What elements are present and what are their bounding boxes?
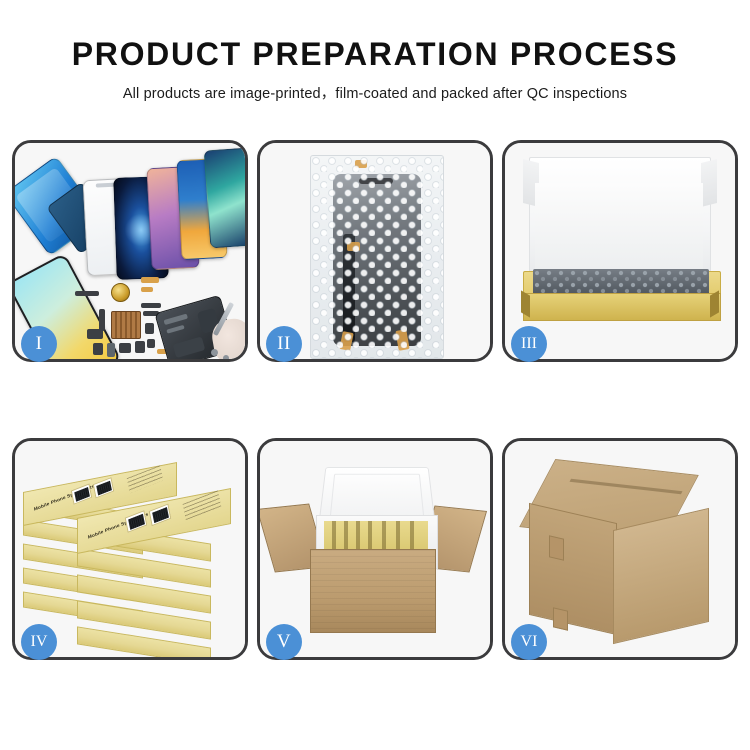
spare-part (141, 303, 161, 308)
process-step-panel-2[interactable]: II (257, 140, 493, 362)
lid-right-flap (701, 159, 717, 207)
spare-part (93, 343, 103, 355)
carton-body (310, 549, 436, 633)
process-step-panel-4[interactable]: Mobile Phone Spare Parts Mobile Phone Sp… (12, 438, 248, 660)
step-1-image (15, 143, 245, 359)
process-step-grid: I II III (12, 140, 738, 660)
process-step-panel-5[interactable]: V (257, 438, 493, 660)
spare-part (99, 309, 105, 331)
box-window (149, 503, 172, 526)
spare-part (145, 323, 154, 334)
screw (211, 349, 218, 356)
box-window (71, 483, 93, 504)
step-number-badge: V (266, 624, 302, 660)
screw (223, 355, 229, 359)
phone-display-teal (204, 148, 245, 249)
box-left-corner (521, 290, 530, 317)
box-window (125, 510, 148, 533)
step-3-image (505, 143, 735, 359)
foam-backing (535, 183, 703, 275)
page-header: PRODUCT PREPARATION PROCESS All products… (0, 0, 750, 103)
page-subtitle: All products are image-printed，film-coat… (0, 82, 750, 103)
step-6-image (505, 441, 735, 657)
bubble-wrap-bag (310, 155, 444, 359)
step-number-badge: II (266, 326, 302, 362)
step-number-badge: IV (21, 624, 57, 660)
box-window (93, 477, 115, 498)
box-spec-lines (183, 490, 222, 521)
flex-cable (141, 277, 159, 283)
process-step-panel-3[interactable]: III (502, 140, 738, 362)
step-4-image: Mobile Phone Spare Parts Mobile Phone Sp… (15, 441, 245, 657)
carton-right-face (613, 508, 709, 644)
logic-board-chip (111, 311, 141, 339)
flex-cable (141, 287, 153, 292)
carton-tape-patch (549, 535, 564, 560)
step-2-image (260, 143, 490, 359)
step-number-badge: I (21, 326, 57, 362)
step-number-badge: VI (511, 624, 547, 660)
carton-left-face (529, 503, 617, 635)
process-step-panel-1[interactable]: I (12, 140, 248, 362)
page-title: PRODUCT PREPARATION PROCESS (0, 38, 750, 72)
step-5-image (260, 441, 490, 657)
bubble-texture (311, 156, 443, 358)
spare-part (135, 341, 145, 353)
spare-part (75, 291, 99, 296)
process-step-panel-6[interactable]: VI (502, 438, 738, 660)
retail-box-stack: Mobile Phone Spare Parts Mobile Phone Sp… (15, 441, 245, 657)
spare-part (147, 339, 155, 348)
step-number-badge: III (511, 326, 547, 362)
kraft-box-front (523, 293, 721, 321)
box-spec-lines (127, 465, 163, 493)
spare-part (119, 343, 131, 353)
speaker-module-icon (111, 283, 130, 302)
carton-tape-patch (553, 607, 568, 630)
spare-part (107, 343, 115, 357)
